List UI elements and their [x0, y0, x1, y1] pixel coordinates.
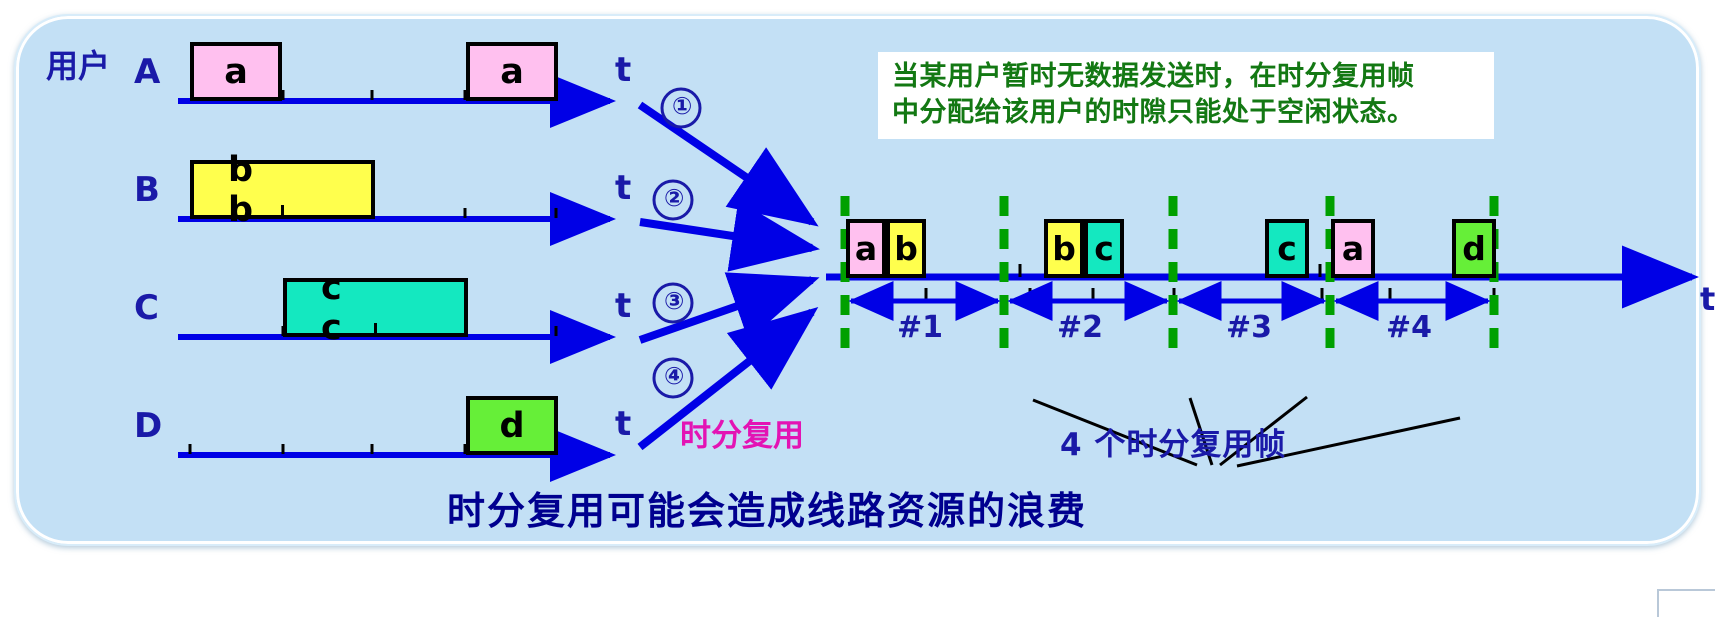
mux-slot-f4-s1: a	[1331, 219, 1375, 278]
block-label: a	[500, 52, 524, 92]
axis-t-label-B: t	[615, 171, 631, 205]
mux-arrow-number-2: ②	[664, 186, 684, 210]
mux-axis-ticks	[926, 264, 1494, 300]
frames-caption: 4 个时分复用帧	[1060, 430, 1286, 461]
user-word-label: 用户	[46, 50, 110, 82]
corner-marker	[1657, 589, 1715, 617]
slot-label: b	[1052, 229, 1076, 268]
mux-arrow-number-4: ④	[664, 364, 684, 388]
slot-label: d	[1462, 229, 1486, 268]
slot-label: b	[894, 229, 918, 268]
note-line-2: 中分配给该用户的时隙只能处于空闲状态。	[892, 95, 1480, 131]
row-label-C: C	[134, 291, 159, 325]
mux-arrow-number-3: ③	[664, 289, 684, 313]
slot-label: c	[1277, 229, 1297, 268]
block-A-1: a	[190, 42, 282, 101]
frame-label-4: #4	[1386, 313, 1432, 343]
axis-t-label-A: t	[615, 53, 631, 87]
slot-label: a	[855, 229, 877, 268]
mux-slot-f3-s3: c	[1265, 219, 1309, 278]
tdm-label: 时分复用	[680, 421, 804, 452]
page-title: 时分复用可能会造成线路资源的浪费	[447, 492, 1087, 530]
axis-t-label-C: t	[615, 289, 631, 323]
block-B-segment-divider	[281, 205, 284, 219]
row-label-A: A	[134, 55, 160, 89]
block-label: a	[224, 52, 248, 92]
slot-label: c	[1094, 229, 1114, 268]
block-D-1: d	[466, 396, 558, 455]
slot-label: a	[1342, 229, 1364, 268]
block-label: d	[499, 406, 524, 446]
note-line-1: 当某用户暂时无数据发送时，在时分复用帧	[892, 59, 1480, 95]
mux-slot-f4-s4: d	[1452, 219, 1496, 278]
mux-slot-f2-s2: b	[1044, 219, 1084, 278]
block-A-2: a	[466, 42, 558, 101]
explanation-note: 当某用户暂时无数据发送时，在时分复用帧 中分配给该用户的时隙只能处于空闲状态。	[878, 52, 1494, 139]
row-label-B: B	[134, 173, 160, 207]
frame-label-1: #1	[897, 313, 943, 343]
diagram-canvas: 用户 A B C D t t t t ① ② ③ ④ a a b b c c d…	[0, 0, 1715, 617]
mux-slot-f2-s3: c	[1084, 219, 1124, 278]
frame-label-2: #2	[1057, 313, 1103, 343]
frame-label-3: #3	[1226, 313, 1272, 343]
arrow-number-circles	[654, 89, 700, 397]
mux-slot-f1-s2: b	[886, 219, 926, 278]
block-C-segment-divider	[374, 323, 377, 337]
row-label-D: D	[134, 409, 162, 443]
axis-t-label-D: t	[615, 407, 631, 441]
mux-axis-t-label: t	[1700, 283, 1715, 315]
mux-slot-f1-s1: a	[846, 219, 886, 278]
mux-arrow-number-1: ①	[672, 94, 692, 118]
